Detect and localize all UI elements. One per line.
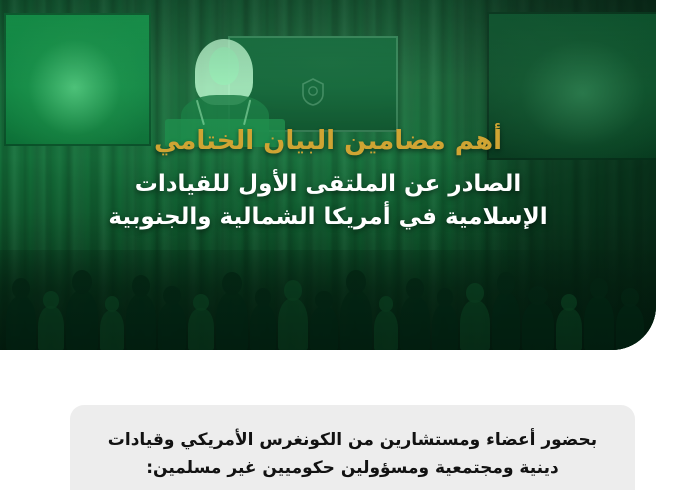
poster-page: أهم مضامين البيان الختامي الصادر عن المل… [0, 0, 700, 490]
headline-gold: أهم مضامين البيان الختامي [32, 126, 624, 158]
headline-white-1: الصادر عن الملتقى الأول للقيادات [32, 168, 624, 201]
headline-white-2: الإسلامية في أمريكا الشمالية والجنوبية [32, 201, 624, 234]
hero-photo-panel: أهم مضامين البيان الختامي الصادر عن المل… [0, 0, 656, 350]
caption-card: بحضور أعضاء ومستشارين من الكونغرس الأمري… [70, 405, 635, 490]
headline-block: أهم مضامين البيان الختامي الصادر عن المل… [0, 126, 656, 234]
caption-text: بحضور أعضاء ومستشارين من الكونغرس الأمري… [96, 427, 609, 482]
